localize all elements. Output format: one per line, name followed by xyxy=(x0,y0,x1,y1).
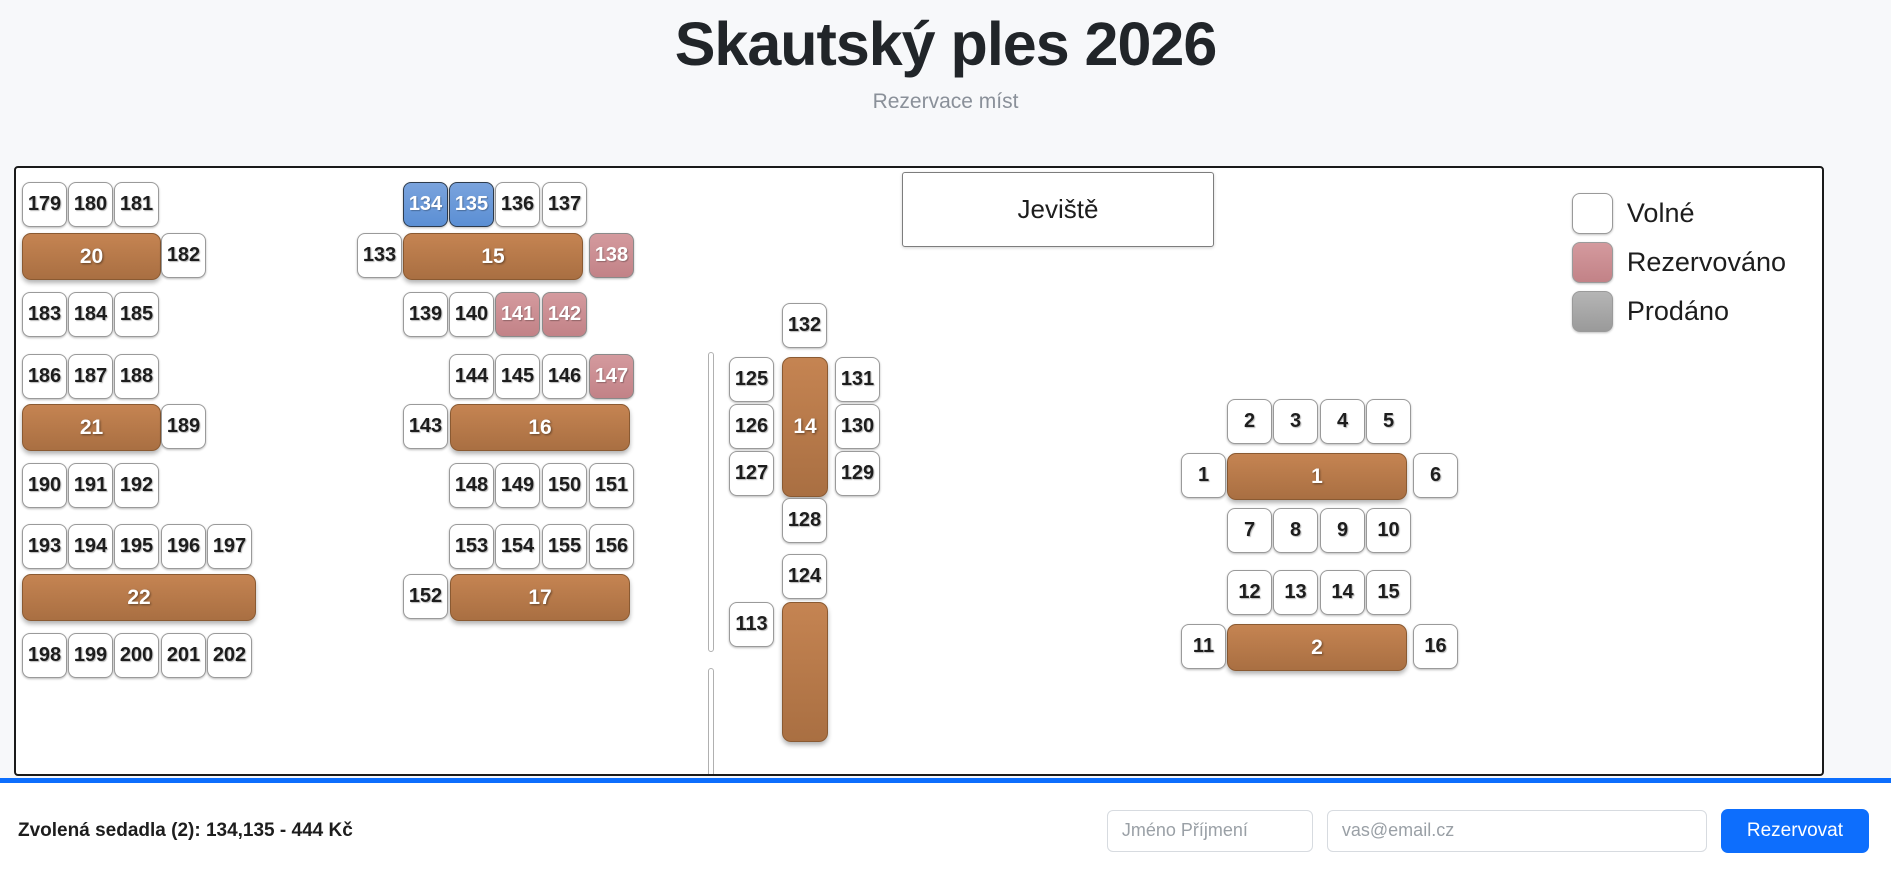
seat-187[interactable]: 187 xyxy=(68,354,113,399)
seat-16[interactable]: 16 xyxy=(1413,624,1458,669)
divider-wall xyxy=(708,352,714,652)
selection-total-price: 444 Kč xyxy=(292,820,353,841)
legend-item-reserved: Rezervováno xyxy=(1572,242,1786,283)
seat-141[interactable]: 141 xyxy=(495,292,540,337)
seat-182[interactable]: 182 xyxy=(161,233,206,278)
legend-item-sold: Prodáno xyxy=(1572,291,1786,332)
seat-186[interactable]: 186 xyxy=(22,354,67,399)
seat-130[interactable]: 130 xyxy=(835,404,880,449)
seat-191[interactable]: 191 xyxy=(68,463,113,508)
seat-135[interactable]: 135 xyxy=(449,182,494,227)
seat-195[interactable]: 195 xyxy=(114,524,159,569)
seat-142[interactable]: 142 xyxy=(542,292,587,337)
table-15: 15 xyxy=(403,233,583,280)
stage-label: Jeviště xyxy=(1018,194,1099,225)
legend-label-reserved: Rezervováno xyxy=(1627,247,1786,278)
seat-9[interactable]: 9 xyxy=(1320,508,1365,553)
table-16: 16 xyxy=(450,404,630,451)
seat-4[interactable]: 4 xyxy=(1320,399,1365,444)
seat-153[interactable]: 153 xyxy=(449,524,494,569)
seat-126[interactable]: 126 xyxy=(729,404,774,449)
table-22: 22 xyxy=(22,574,256,621)
seat-131[interactable]: 131 xyxy=(835,357,880,402)
seat-145[interactable]: 145 xyxy=(495,354,540,399)
seat-190[interactable]: 190 xyxy=(22,463,67,508)
seat-11[interactable]: 11 xyxy=(1181,624,1226,669)
seat-133[interactable]: 133 xyxy=(357,233,402,278)
seat-136[interactable]: 136 xyxy=(495,182,540,227)
seat-193[interactable]: 193 xyxy=(22,524,67,569)
seat-8[interactable]: 8 xyxy=(1273,508,1318,553)
seat-129[interactable]: 129 xyxy=(835,451,880,496)
seat-198[interactable]: 198 xyxy=(22,633,67,678)
legend-swatch-reserved-icon xyxy=(1572,242,1613,283)
seat-180[interactable]: 180 xyxy=(68,182,113,227)
seat-113[interactable]: 113 xyxy=(729,602,774,647)
seat-202[interactable]: 202 xyxy=(207,633,252,678)
seat-144[interactable]: 144 xyxy=(449,354,494,399)
seat-201[interactable]: 201 xyxy=(161,633,206,678)
seat-137[interactable]: 137 xyxy=(542,182,587,227)
seat-15[interactable]: 15 xyxy=(1366,570,1411,615)
page-header: Skautský ples 2026 Rezervace míst xyxy=(0,0,1891,114)
seat-134[interactable]: 134 xyxy=(403,182,448,227)
seat-140[interactable]: 140 xyxy=(449,292,494,337)
legend-label-sold: Prodáno xyxy=(1627,296,1729,327)
reserve-button[interactable]: Rezervovat xyxy=(1721,809,1869,853)
table-13 xyxy=(782,602,828,742)
legend: Volné Rezervováno Prodáno xyxy=(1572,193,1786,332)
seat-150[interactable]: 150 xyxy=(542,463,587,508)
seat-127[interactable]: 127 xyxy=(729,451,774,496)
name-input[interactable] xyxy=(1107,810,1313,852)
seat-3[interactable]: 3 xyxy=(1273,399,1318,444)
legend-swatch-sold-icon xyxy=(1572,291,1613,332)
seat-188[interactable]: 188 xyxy=(114,354,159,399)
seat-183[interactable]: 183 xyxy=(22,292,67,337)
seat-179[interactable]: 179 xyxy=(22,182,67,227)
seat-13[interactable]: 13 xyxy=(1273,570,1318,615)
seat-184[interactable]: 184 xyxy=(68,292,113,337)
legend-swatch-free-icon xyxy=(1572,193,1613,234)
booking-form[interactable]: Rezervovat xyxy=(1107,809,1869,853)
page-title: Skautský ples 2026 xyxy=(0,12,1891,76)
selection-summary-text: Zvolená sedadla (2): 134,135 - xyxy=(18,820,292,841)
seat-128[interactable]: 128 xyxy=(782,498,827,543)
stage-box: Jeviště xyxy=(902,172,1214,247)
seat-146[interactable]: 146 xyxy=(542,354,587,399)
page-subtitle: Rezervace míst xyxy=(0,90,1891,114)
legend-item-free: Volné xyxy=(1572,193,1786,234)
seat-181[interactable]: 181 xyxy=(114,182,159,227)
seat-156[interactable]: 156 xyxy=(589,524,634,569)
seat-2[interactable]: 2 xyxy=(1227,399,1272,444)
table-21: 21 xyxy=(22,404,161,451)
seat-154[interactable]: 154 xyxy=(495,524,540,569)
email-input[interactable] xyxy=(1327,810,1707,852)
seat-149[interactable]: 149 xyxy=(495,463,540,508)
table-1: 1 xyxy=(1227,453,1407,500)
seat-map-panel[interactable]: Jeviště Volné Rezervováno Prodáno 202122… xyxy=(14,166,1824,776)
seat-197[interactable]: 197 xyxy=(207,524,252,569)
seat-6[interactable]: 6 xyxy=(1413,453,1458,498)
seat-125[interactable]: 125 xyxy=(729,357,774,402)
seat-189[interactable]: 189 xyxy=(161,404,206,449)
seat-152[interactable]: 152 xyxy=(403,574,448,619)
seat-14[interactable]: 14 xyxy=(1320,570,1365,615)
table-2: 2 xyxy=(1227,624,1407,671)
seat-155[interactable]: 155 xyxy=(542,524,587,569)
seat-147[interactable]: 147 xyxy=(589,354,634,399)
seat-132[interactable]: 132 xyxy=(782,303,827,348)
seat-199[interactable]: 199 xyxy=(68,633,113,678)
seat-143[interactable]: 143 xyxy=(403,404,448,449)
seat-185[interactable]: 185 xyxy=(114,292,159,337)
seat-148[interactable]: 148 xyxy=(449,463,494,508)
divider-wall xyxy=(708,668,714,776)
seat-194[interactable]: 194 xyxy=(68,524,113,569)
seat-151[interactable]: 151 xyxy=(589,463,634,508)
seat-192[interactable]: 192 xyxy=(114,463,159,508)
seat-139[interactable]: 139 xyxy=(403,292,448,337)
seat-12[interactable]: 12 xyxy=(1227,570,1272,615)
legend-label-free: Volné xyxy=(1627,198,1695,229)
seat-138[interactable]: 138 xyxy=(589,233,634,278)
booking-footer: Zvolená sedadla (2): 134,135 - 444 Kč Re… xyxy=(0,778,1891,878)
seat-7[interactable]: 7 xyxy=(1227,508,1272,553)
seat-10[interactable]: 10 xyxy=(1366,508,1411,553)
table-17: 17 xyxy=(450,574,630,621)
seat-5[interactable]: 5 xyxy=(1366,399,1411,444)
seat-map-canvas[interactable]: Jeviště Volné Rezervováno Prodáno 202122… xyxy=(16,168,1824,776)
seat-124[interactable]: 124 xyxy=(782,554,827,599)
selection-summary: Zvolená sedadla (2): 134,135 - 444 Kč xyxy=(18,820,353,842)
seat-1[interactable]: 1 xyxy=(1181,453,1226,498)
table-14: 14 xyxy=(782,357,828,497)
seat-200[interactable]: 200 xyxy=(114,633,159,678)
table-20: 20 xyxy=(22,233,161,280)
seat-196[interactable]: 196 xyxy=(161,524,206,569)
